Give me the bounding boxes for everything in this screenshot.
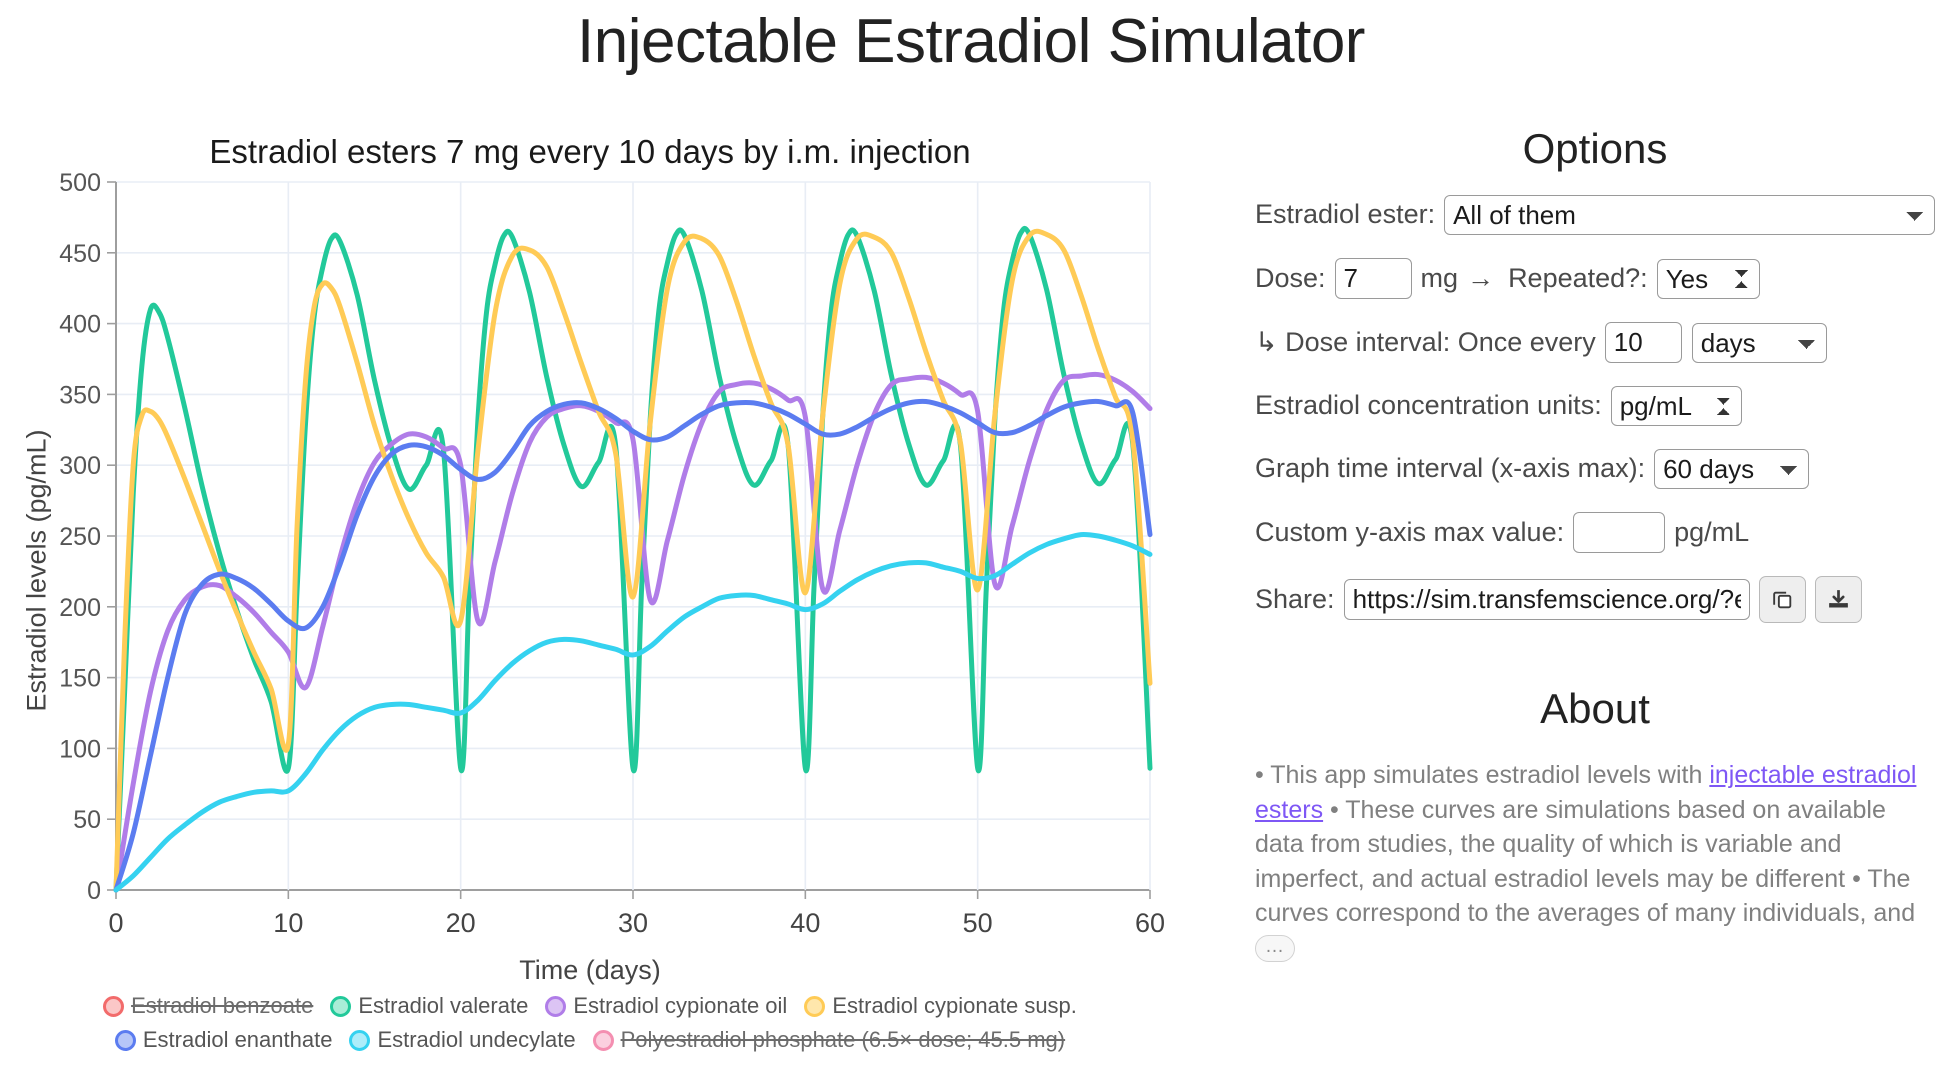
legend-item-label: Estradiol cypionate oil: [573, 993, 787, 1019]
legend-color-swatch-icon: [330, 996, 351, 1017]
repeated-label: Repeated?:: [1508, 264, 1648, 294]
legend-color-swatch-icon: [349, 1030, 370, 1051]
legend-color-swatch-icon: [115, 1030, 136, 1051]
svg-text:100: 100: [59, 735, 101, 763]
svg-text:200: 200: [59, 594, 101, 622]
svg-text:150: 150: [59, 665, 101, 693]
about-text-part-1: • This app simulates estradiol levels wi…: [1255, 761, 1709, 789]
svg-text:400: 400: [59, 311, 101, 339]
legend-item[interactable]: Estradiol undecylate: [349, 1027, 575, 1053]
legend-item[interactable]: Estradiol benzoate: [103, 993, 313, 1019]
show-more-icon[interactable]: …: [1255, 935, 1295, 962]
dose-input[interactable]: [1335, 258, 1412, 299]
x-axis-label: Time (days): [60, 955, 1120, 986]
about-text-part-2: • These curves are simulations based on …: [1255, 796, 1915, 928]
svg-text:10: 10: [273, 908, 303, 938]
legend-item[interactable]: Estradiol cypionate oil: [545, 993, 787, 1019]
dose-interval-unit-select[interactable]: days: [1692, 323, 1827, 363]
about-heading: About: [1255, 685, 1935, 733]
legend-color-swatch-icon: [593, 1030, 614, 1051]
graph-time-interval-select[interactable]: 60 days: [1654, 449, 1809, 489]
ester-label: Estradiol ester:: [1255, 200, 1435, 230]
graph-time-interval-label: Graph time interval (x-axis max):: [1255, 454, 1645, 484]
svg-text:300: 300: [59, 452, 101, 480]
download-icon[interactable]: [1815, 576, 1862, 623]
legend-row-1: Estradiol benzoateEstradiol valerateEstr…: [60, 993, 1120, 1019]
dose-interval-input[interactable]: [1605, 322, 1682, 363]
svg-text:60: 60: [1135, 908, 1165, 938]
about-panel: About • This app simulates estradiol lev…: [1255, 685, 1935, 990]
concentration-units-label: Estradiol concentration units:: [1255, 391, 1602, 421]
dose-label: Dose:: [1255, 264, 1326, 294]
chart-legend: Estradiol benzoateEstradiol valerateEstr…: [60, 993, 1120, 1061]
option-row-ymax: Custom y-axis max value: pg/mL: [1255, 512, 1935, 553]
option-row-xmax: Graph time interval (x-axis max): 60 day…: [1255, 449, 1935, 489]
legend-item-label: Polyestradiol phosphate (6.5× dose; 45.5…: [621, 1027, 1066, 1053]
legend-item[interactable]: Polyestradiol phosphate (6.5× dose; 45.5…: [593, 1027, 1066, 1053]
legend-item-label: Estradiol cypionate susp.: [832, 993, 1077, 1019]
y-axis-label: Estradiol levels (pg/mL): [22, 371, 53, 771]
custom-ymax-input[interactable]: [1573, 512, 1665, 553]
svg-text:0: 0: [87, 877, 101, 905]
share-url-input[interactable]: [1344, 579, 1750, 620]
option-row-interval: ↳ Dose interval: Once every days: [1255, 322, 1935, 363]
repeated-select[interactable]: Yes: [1657, 259, 1760, 299]
estradiol-ester-select[interactable]: All of them: [1444, 195, 1935, 235]
svg-text:30: 30: [618, 908, 648, 938]
legend-row-2: Estradiol enanthateEstradiol undecylateP…: [60, 1027, 1120, 1053]
svg-text:500: 500: [59, 169, 101, 197]
legend-item[interactable]: Estradiol enanthate: [115, 1027, 333, 1053]
legend-item-label: Estradiol benzoate: [131, 993, 313, 1019]
legend-color-swatch-icon: [804, 996, 825, 1017]
legend-item-label: Estradiol enanthate: [143, 1027, 333, 1053]
option-row-units: Estradiol concentration units: pg/mL: [1255, 386, 1935, 426]
legend-item-label: Estradiol valerate: [358, 993, 528, 1019]
legend-color-swatch-icon: [103, 996, 124, 1017]
svg-text:250: 250: [59, 523, 101, 551]
option-row-share: Share:: [1255, 576, 1935, 623]
legend-item[interactable]: Estradiol cypionate susp.: [804, 993, 1077, 1019]
dose-interval-label: ↳ Dose interval: Once every: [1255, 328, 1596, 358]
page-title: Injectable Estradiol Simulator: [0, 6, 1942, 77]
ymax-unit-label: pg/mL: [1674, 518, 1749, 548]
chart-container: Estradiol esters 7 mg every 10 days by i…: [0, 125, 1180, 1085]
options-heading: Options: [1255, 125, 1935, 173]
svg-text:350: 350: [59, 381, 101, 409]
svg-text:40: 40: [790, 908, 820, 938]
svg-text:50: 50: [963, 908, 993, 938]
svg-text:20: 20: [446, 908, 476, 938]
arrow-icon: →: [1467, 264, 1494, 294]
dose-unit-label: mg: [1421, 264, 1459, 294]
svg-text:450: 450: [59, 240, 101, 268]
option-row-ester: Estradiol ester: All of them: [1255, 195, 1935, 235]
estradiol-levels-chart: 0501001502002503003504004505000102030405…: [0, 125, 1180, 965]
options-panel: Options Estradiol ester: All of them Dos…: [1255, 125, 1935, 646]
copy-icon[interactable]: [1759, 576, 1806, 623]
about-text: • This app simulates estradiol levels wi…: [1255, 758, 1935, 965]
legend-color-swatch-icon: [545, 996, 566, 1017]
legend-item[interactable]: Estradiol valerate: [330, 993, 528, 1019]
svg-text:50: 50: [73, 806, 101, 834]
option-row-dose: Dose: mg → Repeated?: Yes: [1255, 258, 1935, 299]
legend-item-label: Estradiol undecylate: [377, 1027, 575, 1053]
share-label: Share:: [1255, 585, 1335, 615]
svg-text:0: 0: [108, 908, 123, 938]
custom-ymax-label: Custom y-axis max value:: [1255, 518, 1564, 548]
app-root: Injectable Estradiol Simulator Estradiol…: [0, 0, 1942, 1085]
concentration-units-select[interactable]: pg/mL: [1611, 386, 1742, 426]
